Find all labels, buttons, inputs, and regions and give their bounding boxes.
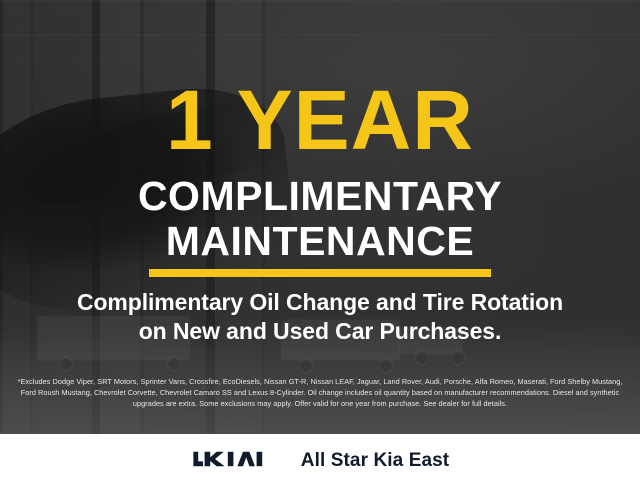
banner-content: 1 YEAR COMPLIMENTARY MAINTENANCE Complim… <box>0 0 640 488</box>
kia-logo-icon <box>191 446 279 477</box>
dealer-name: All Star Kia East <box>301 450 449 472</box>
offer-line-1: Complimentary Oil Change and Tire Rotati… <box>0 288 640 317</box>
yellow-divider-bar <box>149 269 491 277</box>
promotional-banner: 1 YEAR COMPLIMENTARY MAINTENANCE Complim… <box>0 0 640 488</box>
offer-text: Complimentary Oil Change and Tire Rotati… <box>0 288 640 346</box>
disclaimer-text: *Excludes Dodge Viper, SRT Motors, Sprin… <box>14 376 626 409</box>
headline-secondary-line2: MAINTENANCE <box>0 221 640 262</box>
footer-bar: All Star Kia East <box>0 434 640 488</box>
offer-line-2: on New and Used Car Purchases. <box>0 317 640 346</box>
headline-secondary-line1: COMPLIMENTARY <box>0 176 640 217</box>
headline-primary: 1 YEAR <box>0 78 640 162</box>
